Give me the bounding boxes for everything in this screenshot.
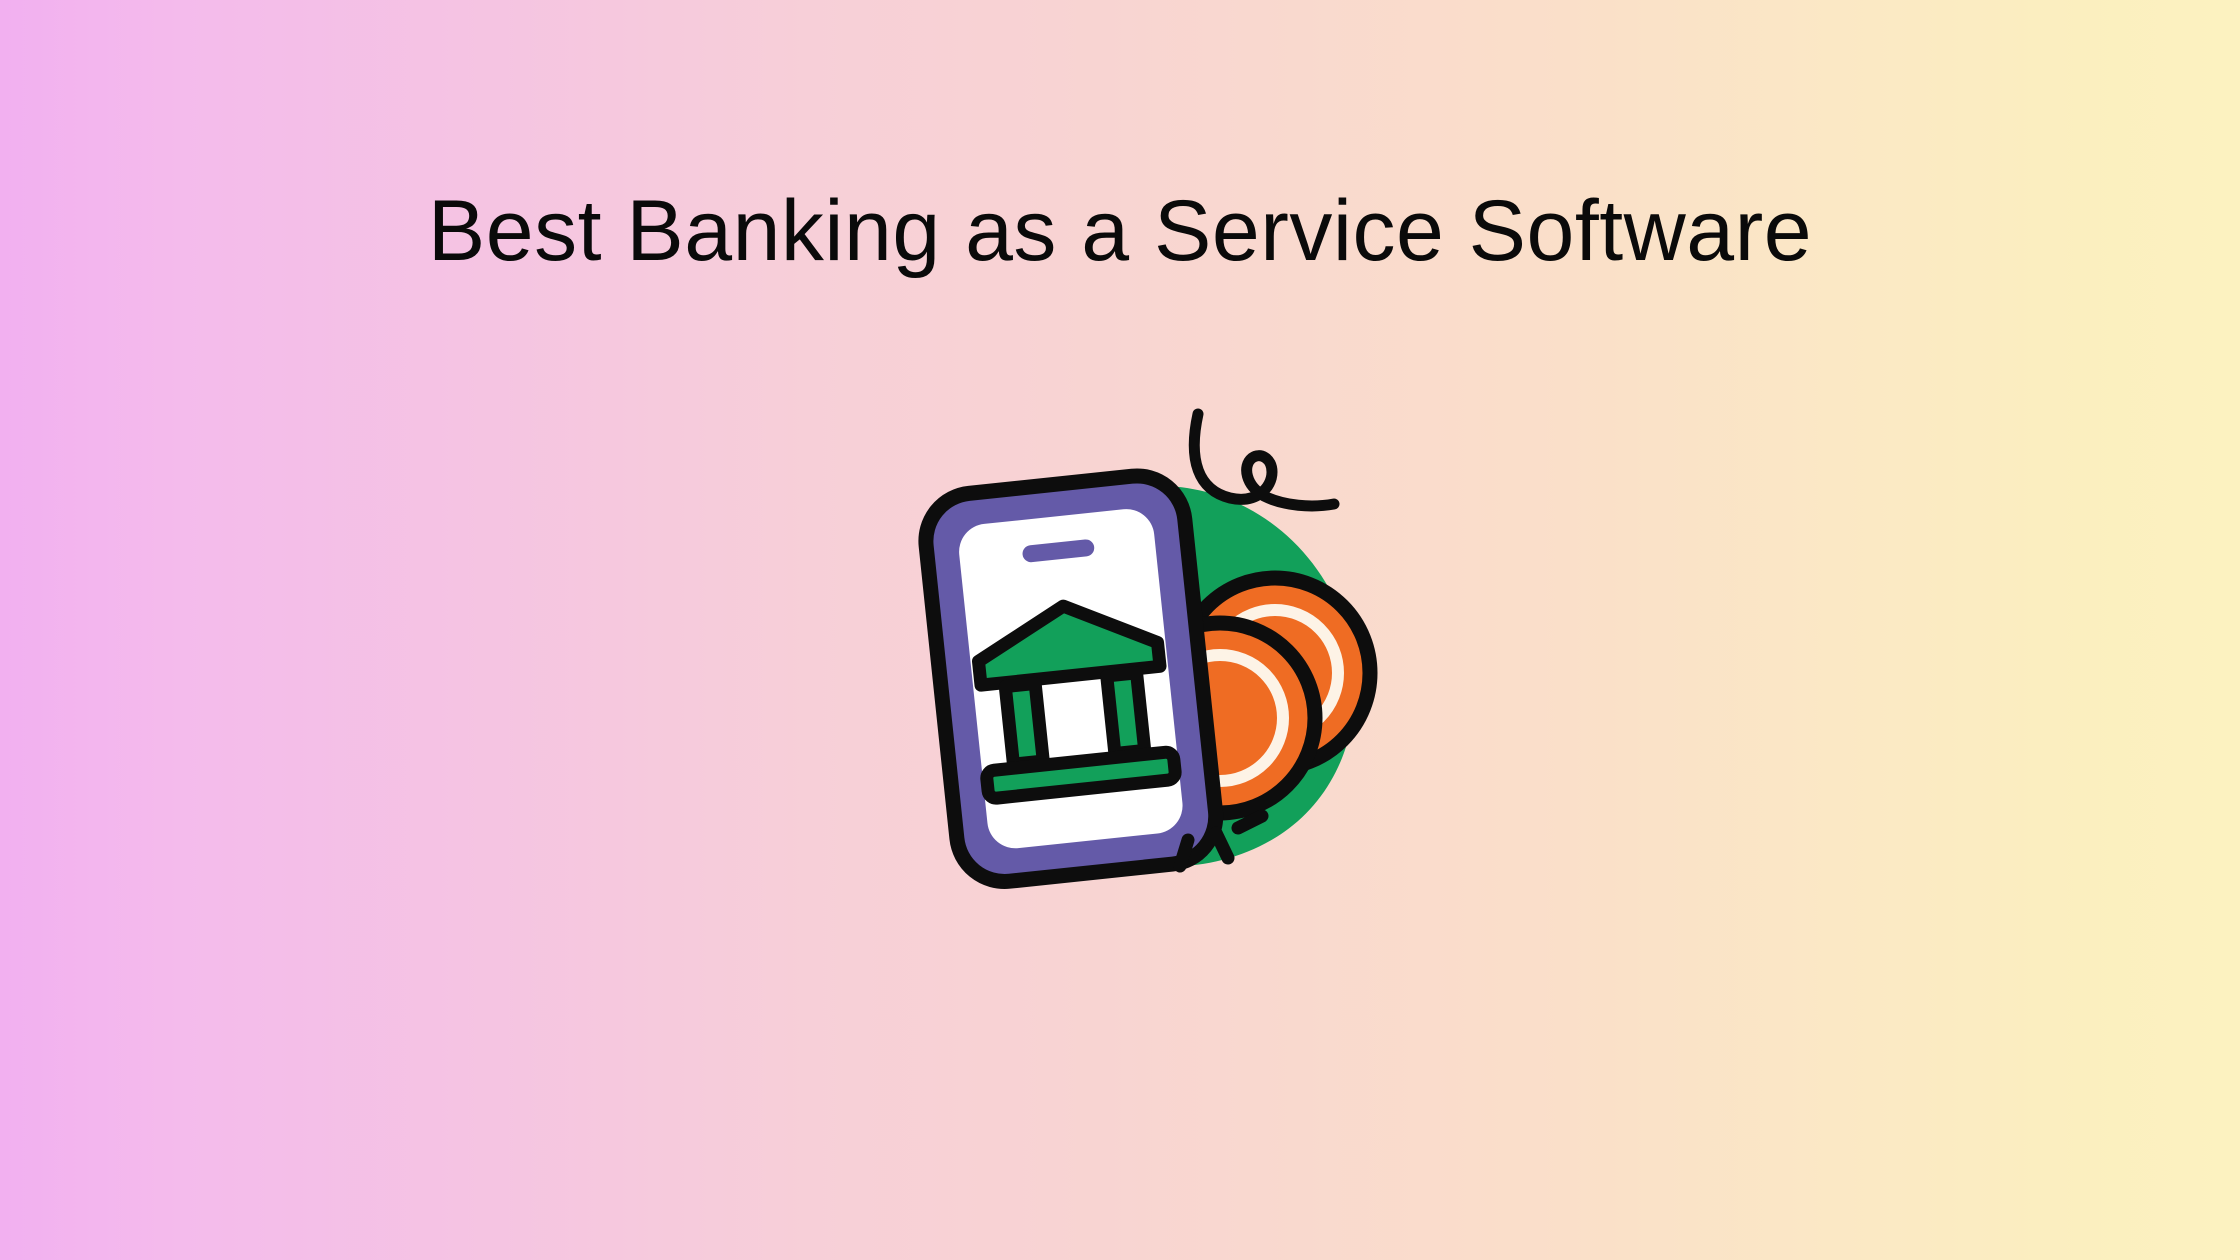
phone-device <box>921 471 1220 886</box>
banking-as-a-service-illustration <box>880 378 1420 898</box>
page-title: Best Banking as a Service Software <box>0 186 2240 276</box>
hero-banner: Best Banking as a Service Software <box>0 0 2240 1260</box>
squiggle-loop-icon <box>1194 414 1334 506</box>
